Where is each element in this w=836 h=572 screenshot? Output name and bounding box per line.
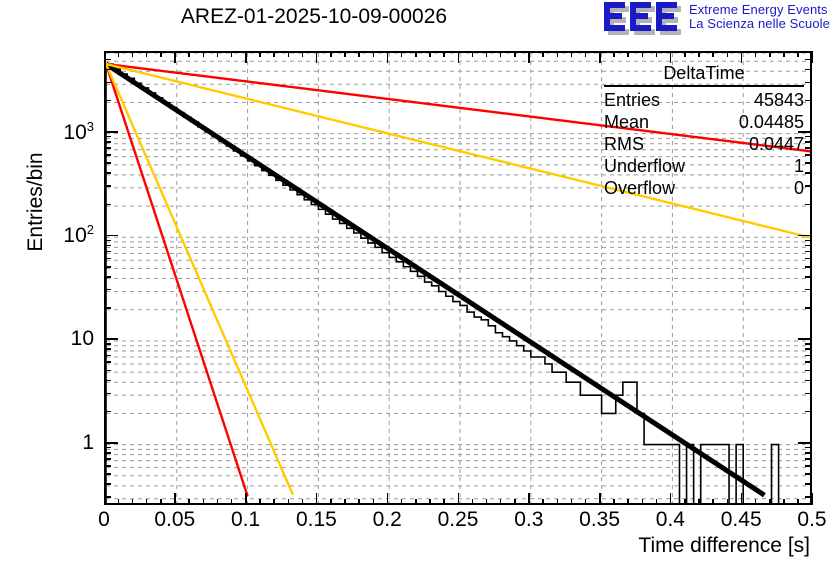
stats-key: RMS <box>604 133 644 155</box>
stats-row: Underflow1 <box>604 155 804 177</box>
stats-row: Mean0.04485 <box>604 111 804 133</box>
stats-key: Underflow <box>604 155 685 177</box>
y-axis-tick-labels: 110102103 <box>0 0 104 572</box>
stats-value: 0.04485 <box>739 111 804 133</box>
y-tick-label: 1 <box>82 431 94 455</box>
stats-key: Overflow <box>604 177 675 199</box>
stats-rows: Entries45843Mean0.04485RMS0.0447Underflo… <box>604 89 804 199</box>
x-tick-label: 0.15 <box>296 508 337 532</box>
y-tick-label: 103 <box>63 119 94 145</box>
x-axis-tick-labels: 00.050.10.150.20.250.30.350.40.450.5 <box>0 508 836 538</box>
stats-value: 1 <box>794 155 804 177</box>
logo-line-1: Extreme Energy Events <box>689 3 830 17</box>
stats-key: Entries <box>604 89 660 111</box>
stats-divider <box>604 85 804 87</box>
eee-logo-icon <box>604 2 682 32</box>
chart-canvas: AREZ-01-2025-10-09-00026 Extreme Energy … <box>0 0 836 572</box>
x-tick-label: 0.1 <box>231 508 260 532</box>
stats-key: Mean <box>604 111 649 133</box>
x-tick-label: 0.45 <box>721 508 762 532</box>
logo-line-2: La Scienza nelle Scuole <box>689 17 830 31</box>
x-tick-label: 0.25 <box>438 508 479 532</box>
stats-value: 45843 <box>754 89 804 111</box>
x-tick-label: 0.4 <box>656 508 685 532</box>
x-tick-label: 0.2 <box>373 508 402 532</box>
y-tick-label: 102 <box>63 222 94 248</box>
stats-row: RMS0.0447 <box>604 133 804 155</box>
stats-row: Overflow0 <box>604 177 804 199</box>
stats-box: DeltaTime Entries45843Mean0.04485RMS0.04… <box>604 63 804 199</box>
stats-title: DeltaTime <box>604 63 804 85</box>
stats-row: Entries45843 <box>604 89 804 111</box>
x-tick-label: 0.05 <box>154 508 195 532</box>
x-tick-label: 0.5 <box>797 508 826 532</box>
eee-logo: Extreme Energy Events La Scienza nelle S… <box>604 2 830 32</box>
y-tick-label: 10 <box>71 327 94 351</box>
eee-logo-text: Extreme Energy Events La Scienza nelle S… <box>689 3 830 31</box>
stats-value: 0.0447 <box>749 133 804 155</box>
stats-value: 0 <box>794 177 804 199</box>
x-tick-label: 0.3 <box>514 508 543 532</box>
chart-title: AREZ-01-2025-10-09-00026 <box>104 5 524 29</box>
x-tick-label: 0.35 <box>579 508 620 532</box>
